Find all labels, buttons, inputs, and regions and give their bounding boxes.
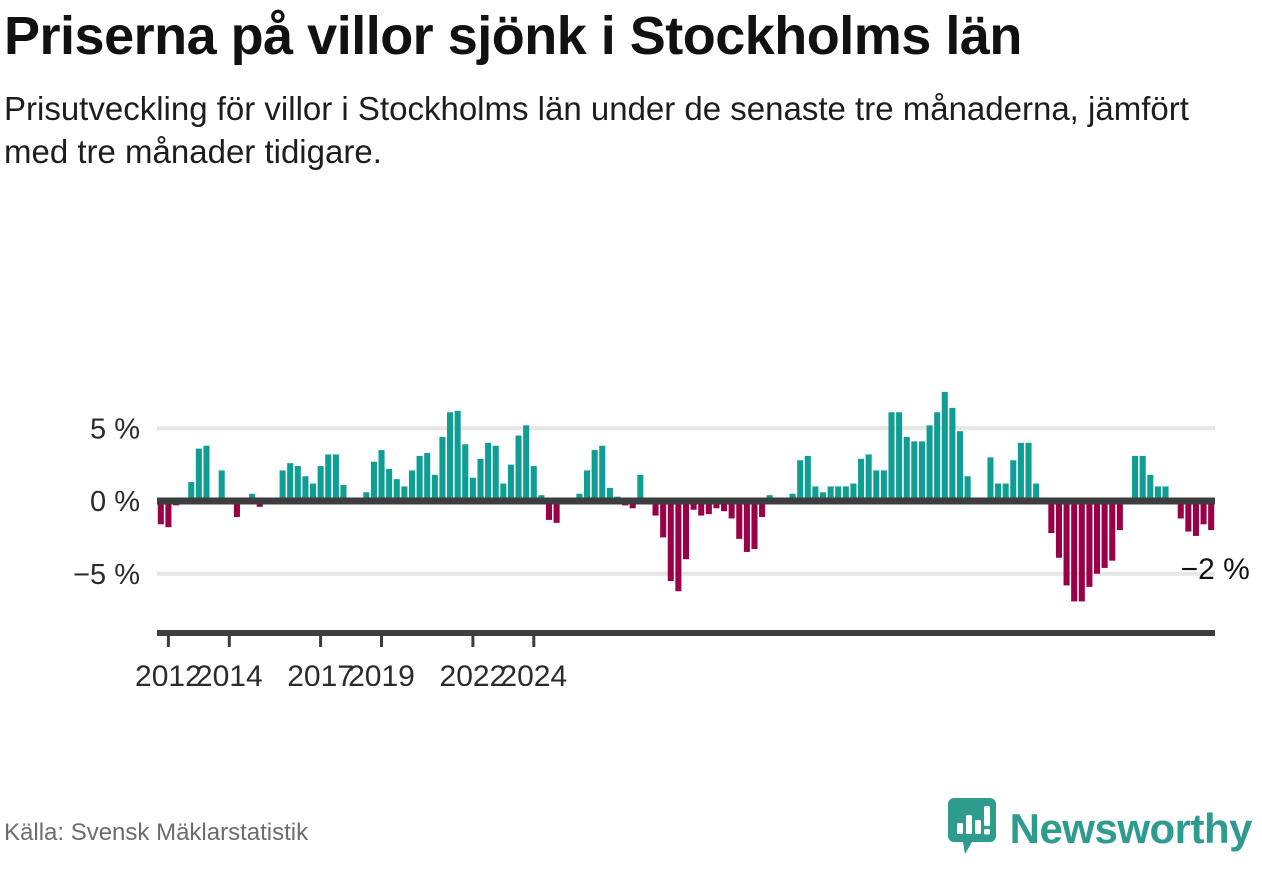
bar — [957, 431, 963, 501]
bar — [295, 466, 301, 501]
source-credit: Källa: Svensk Mäklarstatistik — [4, 819, 308, 847]
bar — [1079, 501, 1085, 601]
bar — [942, 392, 948, 501]
x-axis-tick-label: 2019 — [348, 660, 415, 686]
logo-mark-icon — [947, 797, 997, 860]
bar-chart: 5 %0 %−5 %201220142017201920222024−2 % — [0, 366, 1262, 686]
bar — [927, 425, 933, 501]
bar — [805, 456, 811, 501]
bar — [523, 425, 529, 501]
bar — [477, 459, 483, 501]
bar — [1140, 456, 1146, 501]
bar — [888, 412, 894, 501]
bar — [1064, 501, 1070, 585]
bar — [302, 476, 308, 501]
bar — [866, 454, 872, 501]
x-axis-tick-label: 2022 — [440, 660, 507, 686]
bar — [455, 411, 461, 501]
chart-canvas: 5 %0 %−5 %201220142017201920222024−2 % — [0, 366, 1262, 686]
bar — [371, 462, 377, 501]
bar — [447, 412, 453, 501]
bar — [858, 459, 864, 501]
page-title: Priserna på villor sjönk i Stockholms lä… — [4, 6, 1219, 66]
bar — [668, 501, 674, 581]
speech-bubble-chart-icon — [947, 797, 997, 855]
bar — [325, 454, 331, 501]
bar — [485, 443, 491, 501]
x-axis-tick-label: 2017 — [287, 660, 354, 686]
bar — [165, 501, 171, 527]
y-axis-tick-label: 5 % — [90, 413, 140, 445]
bar — [934, 412, 940, 501]
footer: Källa: Svensk Mäklarstatistik Newsworthy — [0, 787, 1262, 879]
header: Priserna på villor sjönk i Stockholms lä… — [4, 6, 1244, 173]
bar — [919, 441, 925, 501]
x-axis-tick-label: 2014 — [196, 660, 263, 686]
bar — [219, 470, 225, 501]
bar — [1010, 460, 1016, 501]
bar — [1056, 501, 1062, 558]
bar — [744, 501, 750, 552]
bar — [881, 470, 887, 501]
x-axis-tick-label: 2012 — [135, 660, 202, 686]
infographic-page: Priserna på villor sjönk i Stockholms lä… — [0, 0, 1262, 879]
bar — [386, 469, 392, 501]
bar — [736, 501, 742, 539]
bar — [896, 412, 902, 501]
bar — [1086, 501, 1092, 587]
bar — [508, 465, 514, 501]
bar — [493, 446, 499, 501]
bar — [1193, 501, 1199, 536]
bar — [1102, 501, 1108, 568]
bar — [911, 441, 917, 501]
bar — [409, 470, 415, 501]
bar — [1117, 501, 1123, 530]
brand-name: Newsworthy — [1010, 808, 1252, 850]
bar — [1071, 501, 1077, 601]
bar — [965, 476, 971, 501]
bar — [432, 475, 438, 501]
value-annotation: −2 % — [1181, 553, 1250, 586]
page-subtitle: Prisutveckling för villor i Stockholms l… — [4, 88, 1244, 172]
bar — [379, 450, 385, 501]
bar — [1109, 501, 1115, 561]
bar — [280, 470, 286, 501]
bar — [675, 501, 681, 591]
bar — [462, 444, 468, 501]
bar — [1147, 475, 1153, 501]
bar — [424, 453, 430, 501]
bar — [1185, 501, 1191, 532]
bar — [333, 454, 339, 501]
bar — [1048, 501, 1054, 533]
bar — [797, 460, 803, 501]
y-axis-tick-label: 0 % — [90, 486, 140, 518]
bar — [584, 470, 590, 501]
bar — [987, 457, 993, 501]
bar — [287, 463, 293, 501]
bar — [949, 408, 955, 501]
bar — [873, 470, 879, 501]
bar — [592, 450, 598, 501]
bar — [1018, 443, 1024, 501]
bar — [1208, 501, 1214, 530]
bar — [439, 437, 445, 501]
bar — [516, 436, 522, 501]
bar — [599, 446, 605, 501]
bar — [660, 501, 666, 537]
bar — [1094, 501, 1100, 574]
bar — [751, 501, 757, 549]
bar — [318, 466, 324, 501]
bar — [1025, 443, 1031, 501]
bar — [904, 437, 910, 501]
x-axis-tick-label: 2024 — [500, 660, 567, 686]
bar — [417, 456, 423, 501]
newsworthy-logo: Newsworthy — [947, 797, 1252, 860]
y-axis-tick-label: −5 % — [73, 559, 140, 591]
bar — [196, 449, 202, 501]
bar — [637, 475, 643, 501]
bar — [1132, 456, 1138, 501]
bar — [203, 446, 209, 501]
bar — [531, 466, 537, 501]
bar — [683, 501, 689, 559]
